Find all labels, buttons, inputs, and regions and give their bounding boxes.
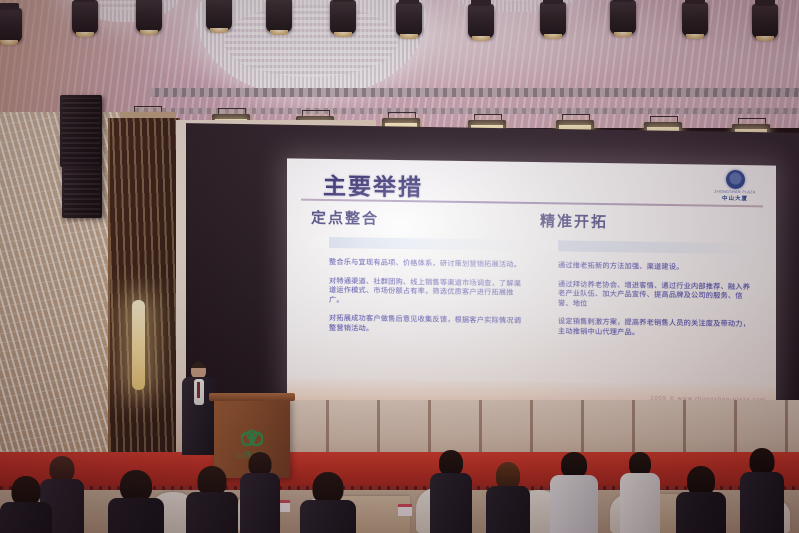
par-light [610,0,636,34]
audience-body [430,473,472,533]
column-paragraph: 对拓展成功客户做售后意见收集反馈，根据客户实际情况调整营销活动。 [329,313,523,335]
slide-title: 主要举措 [323,167,423,202]
audience-member [676,466,726,533]
light-yoke [218,108,246,115]
audience-body [186,492,238,533]
presenter [182,362,216,454]
line-array-speaker-left-lower [62,166,102,218]
audience-member [486,462,530,533]
par-light [330,0,356,34]
audience-body [108,498,164,533]
audience-body [486,486,530,533]
par-light [266,0,292,32]
column-paragraph: 整合乐与宜现有品项、价格体系，研讨策划营销拓展活动。 [329,257,523,269]
audience-member [300,472,356,533]
column-heading-right: 精准开拓 [540,210,752,234]
title-divider [301,199,763,207]
par-light [682,2,708,36]
light-yoke [738,118,766,125]
par-light [396,2,422,36]
audience-member [186,466,238,533]
podium-emblem-icon [241,424,263,446]
par-light [752,4,778,38]
light-yoke [388,112,416,119]
par-light [206,0,232,30]
audience-member [430,450,472,533]
audience-member [620,452,660,533]
column-accent-bar-right [540,240,748,254]
column-paragraph: 通过拜访养老协会、增进客情、通过行业内部推荐、融入养老产业队伍、加大产品宣传、提… [558,279,752,310]
decorative-column [108,118,180,473]
speaker-grill [62,98,100,164]
light-yoke [562,114,590,121]
audience-body [550,475,598,533]
presentation-slide[interactable]: 主要举措 ZHONGSHAN PLAZA 中山大厦 定点整合 整合乐与宜现有品项… [287,158,776,407]
column-heading-left: 定点整合 [311,207,523,231]
audience-member [740,448,784,533]
audience-body [240,473,280,533]
podium-top [209,393,295,401]
presenter-tie [197,382,200,398]
audience-member [108,470,164,533]
ceiling-truss-rail [150,88,799,97]
speaker-grill [64,169,100,215]
par-light [136,0,162,32]
audience-body [0,502,52,533]
light-yoke [650,116,678,123]
slide-column-left: 定点整合 整合乐与宜现有品项、价格体系，研讨策划营销拓展活动。 对特通渠道、社群… [311,207,523,335]
par-light [72,0,98,34]
audience-body [300,500,356,533]
column-accent-bar-left [311,237,519,251]
vertical-light-fixture [132,300,145,390]
audience-member [240,452,280,533]
light-yoke [302,110,330,117]
light-yoke [474,114,502,121]
par-light [540,2,566,36]
slide-column-right: 精准开拓 通过维老拓新的方法加强、渠道建设。 通过拜访养老协会、增进客情、通过行… [540,210,752,338]
column-paragraph: 设定销售刺激方案，提高养老销售人员的关注度及带动力，主动推销中山代理产品。 [558,316,752,338]
column-paragraph: 通过维老拓新的方法加强、渠道建设。 [558,260,752,272]
audience-member [0,476,52,533]
audience-body [620,473,660,533]
column-paragraph: 对特通渠道、社群团购、线上销售等渠道市场调查，了解渠道运作模式、市场份额占有率，… [329,275,523,306]
par-light [468,4,494,38]
audience-member [550,452,598,533]
company-logo: ZHONGSHAN PLAZA 中山大厦 [706,170,764,205]
logo-chinese-text: 中山大厦 [706,194,764,203]
audience-body [740,472,784,533]
logo-emblem-icon [726,170,745,189]
audience-head [750,448,775,475]
name-card [398,504,412,516]
line-array-speaker-left [60,95,102,167]
audience-body [676,492,726,533]
conference-hall-photo: 主要举措 ZHONGSHAN PLAZA 中山大厦 定点整合 整合乐与宜现有品项… [0,0,799,533]
par-light [0,8,22,42]
